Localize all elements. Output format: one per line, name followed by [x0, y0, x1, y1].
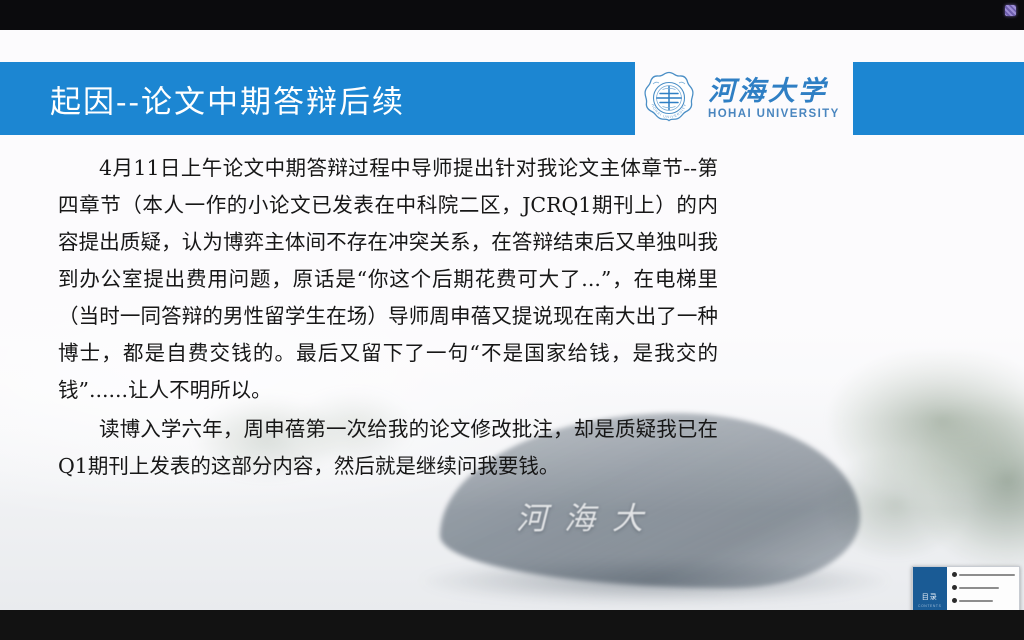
slide-body-text: 4月11日上午论文中期答辩过程中导师提出针对我论文主体章节--第四章节（本人一作…: [58, 150, 718, 487]
list-item: [952, 572, 1016, 577]
bullet-icon: [952, 598, 957, 603]
hohai-university-seal-icon: HOHAI UNIVERSITY: [640, 70, 698, 128]
pip-contents-list: [947, 567, 1020, 610]
list-item: [952, 585, 1016, 590]
app-tray-icon[interactable]: [1005, 5, 1016, 16]
pip-contents-panel: 目录 CONTENTS: [913, 567, 947, 610]
university-logo: HOHAI UNIVERSITY 河海大学 HOHAI UNIVERSITY: [640, 66, 850, 132]
letterbox-bottom-bar: [0, 610, 1024, 640]
letterbox-top-bar: [0, 0, 1024, 30]
university-name-cn: 河海大学: [708, 78, 840, 105]
page-title: 起因--论文中期答辩后续: [50, 76, 405, 121]
list-item-text: [959, 600, 993, 602]
list-item-text: [959, 587, 999, 589]
stone-carving-text: 河海大: [516, 493, 660, 538]
list-item: [952, 598, 1016, 603]
screen: 河海大 起因--论文中期答辩后续: [0, 0, 1024, 640]
header-band-right: [853, 62, 1024, 135]
bullet-icon: [952, 585, 957, 590]
paragraph: 4月11日上午论文中期答辩过程中导师提出针对我论文主体章节--第四章节（本人一作…: [58, 150, 718, 409]
photo-trees-right: [704, 350, 1024, 600]
pip-label-en: CONTENTS: [918, 604, 941, 608]
pip-thumbnail[interactable]: 目录 CONTENTS: [912, 566, 1020, 610]
paragraph: 读博入学六年，周申蓓第一次给我的论文修改批注，却是质疑我已在Q1期刊上发表的这部…: [58, 411, 718, 485]
list-item-text: [959, 574, 1015, 576]
bullet-icon: [952, 572, 957, 577]
pip-label-cn: 目录: [922, 592, 938, 602]
photo-rock-shadow: [420, 558, 890, 604]
university-wordmark: 河海大学 HOHAI UNIVERSITY: [708, 78, 840, 121]
university-name-en: HOHAI UNIVERSITY: [708, 109, 840, 121]
slide-header: 起因--论文中期答辩后续 HOHAI UNIVERSIT: [0, 62, 1024, 135]
presentation-slide: 河海大 起因--论文中期答辩后续: [0, 30, 1024, 610]
